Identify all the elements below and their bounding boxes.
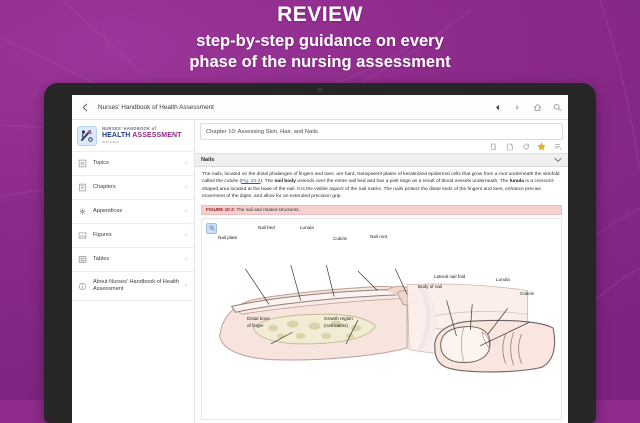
promo-line-2: step-by-step guidance on every <box>0 31 640 52</box>
term-nail-body: nail body <box>275 179 296 184</box>
chapter-title-field[interactable]: Chapter 10: Assessing Skin, Hair, and Na… <box>200 123 563 140</box>
outline-icon[interactable] <box>553 142 562 151</box>
chevron-right-icon: › <box>185 185 187 191</box>
paragraph-part-3: extends over the entire nail bed and has… <box>296 179 510 184</box>
sidebar-item-figures[interactable]: Figures › <box>72 224 194 248</box>
figure-label-cuticle-right: Cuticle <box>520 291 534 297</box>
figure-label-cuticle-left: Cuticle <box>333 236 347 242</box>
brand-logo[interactable]: NURSES' HANDBOOK of HEALTH ASSESSMENT Ni… <box>72 120 194 152</box>
image-icon <box>78 231 87 240</box>
figure-caption-text: The nail and related structures. <box>235 207 300 212</box>
figure-caption-label: FIGURE 10-2: <box>206 207 235 212</box>
brand-line-2: HEALTH ASSESSMENT <box>102 132 182 139</box>
note-icon[interactable] <box>489 142 498 151</box>
section-heading: Nails <box>201 157 214 163</box>
figure-caption: FIGURE 10-2: The nail and related struct… <box>201 205 562 215</box>
brand-line-2-b: ASSESSMENT <box>132 132 181 139</box>
table-icon <box>78 255 87 264</box>
tablet-screen: Nurses' Handbook of Health Assessment <box>72 95 568 423</box>
figure-label-growth-region-1: Growth region <box>324 316 353 322</box>
figure-label-lunula-right: Lunula <box>496 277 510 283</box>
chevron-right-icon: › <box>185 283 187 289</box>
brand-line-3: Ninth Edition <box>102 141 182 144</box>
figure-label-nail-root: Nail root <box>370 234 387 240</box>
sidebar-item-label: Appendices <box>93 208 122 215</box>
favorite-star-icon[interactable] <box>537 142 546 151</box>
nursing-tools-icon <box>77 126 97 146</box>
next-icon[interactable] <box>512 102 523 113</box>
figure-label-lateral-nail-fold: Lateral nail fold <box>434 274 465 280</box>
front-camera-icon <box>318 88 322 92</box>
book-icon <box>78 183 87 192</box>
sidebar-item-label: About Nurses' Handbook of Health Assessm… <box>93 279 179 293</box>
sidebar-item-tables[interactable]: Tables › <box>72 248 194 272</box>
brand-line-2-a: HEALTH <box>102 132 132 139</box>
figure-image[interactable]: Nail plate Nail bed Lunula Cuticle Nail … <box>201 218 562 420</box>
sidebar-item-label: Chapters <box>93 184 116 191</box>
tablet-device: Nurses' Handbook of Health Assessment <box>44 83 596 423</box>
promo-line-3: phase of the nursing assessment <box>0 52 640 73</box>
chevron-right-icon: › <box>185 233 187 239</box>
app-bar: Nurses' Handbook of Health Assessment <box>72 95 568 120</box>
chevron-right-icon: › <box>185 161 187 167</box>
list-icon <box>78 159 87 168</box>
figure-label-distal-bone-2: of finger <box>247 323 264 329</box>
content-pane: Chapter 10: Assessing Skin, Hair, and Na… <box>195 120 568 423</box>
paragraph-part-2: ). The <box>260 179 274 184</box>
sidebar-item-label: Topics <box>93 160 109 167</box>
sidebar-item-appendices[interactable]: Appendices › <box>72 200 194 224</box>
figure-link[interactable]: Fig. 10-2 <box>241 179 260 184</box>
appendix-icon <box>78 207 87 216</box>
figure-label-lunula-left: Lunula <box>300 225 314 231</box>
sidebar-item-topics[interactable]: Topics › <box>72 152 194 176</box>
figure-label-growth-region-2: (nail matrix) <box>324 323 348 329</box>
term-lunula: lunula <box>510 179 524 184</box>
sidebar-item-label: Figures <box>93 232 112 239</box>
chevron-down-icon[interactable] <box>554 157 562 163</box>
sidebar-item-label: Tables <box>93 256 109 263</box>
content-toolbar <box>195 140 568 153</box>
home-icon[interactable] <box>532 102 543 113</box>
brand-text: NURSES' HANDBOOK of HEALTH ASSESSMENT Ni… <box>102 127 182 144</box>
promo-headline: REVIEW step-by-step guidance on every ph… <box>0 4 640 73</box>
body-paragraph: The nails, located on the distal phalang… <box>195 167 568 203</box>
previous-icon[interactable] <box>492 102 503 113</box>
search-icon[interactable] <box>552 102 563 113</box>
sidebar-item-about[interactable]: About Nurses' Handbook of Health Assessm… <box>72 272 194 301</box>
figure-label-distal-bone-1: Distal bone <box>247 316 270 322</box>
promo-line-1: REVIEW <box>0 4 640 26</box>
back-arrow-icon[interactable] <box>72 103 98 112</box>
chevron-right-icon: › <box>185 209 187 215</box>
chevron-right-icon: › <box>185 257 187 263</box>
sidebar: NURSES' HANDBOOK of HEALTH ASSESSMENT Ni… <box>72 120 195 423</box>
section-heading-bar: Nails <box>195 153 568 167</box>
magnify-icon[interactable] <box>206 223 217 234</box>
figure-label-nail-bed: Nail bed <box>258 225 275 231</box>
app-title: Nurses' Handbook of Health Assessment <box>98 104 214 111</box>
page-icon[interactable] <box>505 142 514 151</box>
figure-label-body-of-nail: Body of nail <box>418 284 442 290</box>
chapter-title: Chapter 10: Assessing Skin, Hair, and Na… <box>206 129 318 135</box>
app-bar-nav-icons <box>492 95 563 119</box>
brand-line-1: NURSES' HANDBOOK of <box>102 127 182 131</box>
sidebar-item-chapters[interactable]: Chapters › <box>72 176 194 200</box>
info-icon <box>78 282 87 291</box>
app-body: NURSES' HANDBOOK of HEALTH ASSESSMENT Ni… <box>72 120 568 423</box>
tag-icon[interactable] <box>521 142 530 151</box>
figure-label-nail-plate: Nail plate <box>218 235 237 241</box>
